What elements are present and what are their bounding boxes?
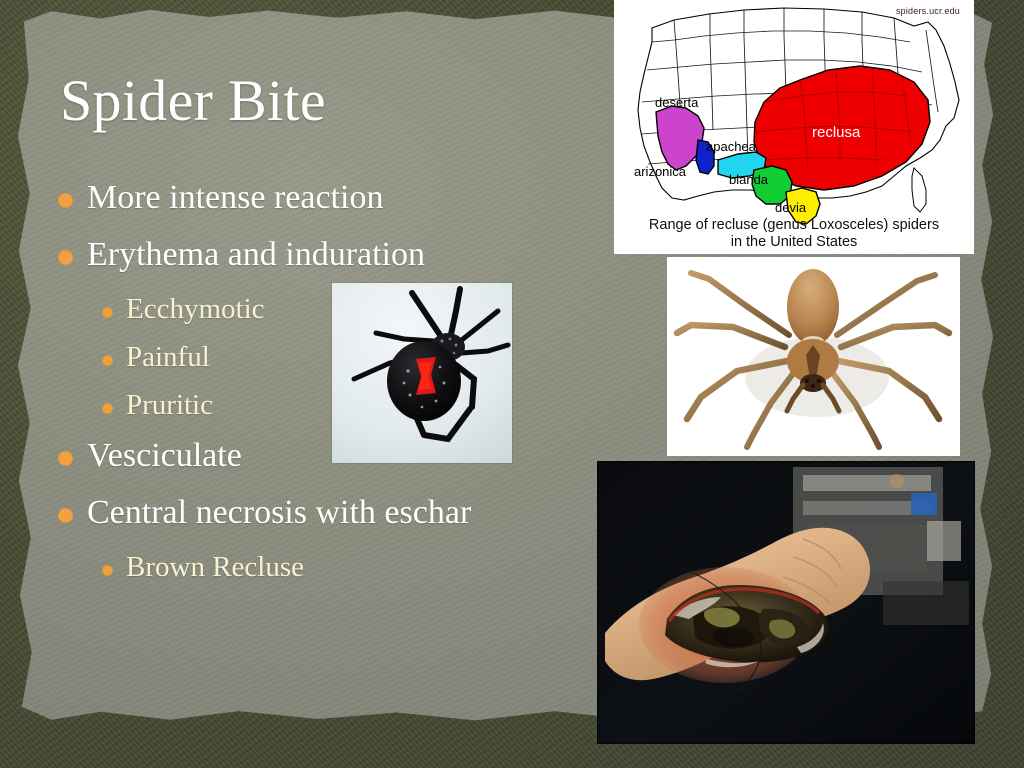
list-item-label: More intense reaction	[87, 172, 383, 223]
bullet-dot-icon	[102, 307, 113, 318]
page-title: Spider Bite	[60, 72, 326, 130]
list-item-label: Brown Recluse	[126, 544, 304, 590]
slide: Spider Bite More intense reaction Erythe…	[0, 0, 1024, 768]
list-item: Brown Recluse	[102, 544, 618, 590]
recluse-range-map: spiders.ucr.edu deserta arizonica apache…	[614, 0, 974, 254]
bullet-dot-icon	[58, 508, 73, 523]
bullet-dot-icon	[102, 355, 113, 366]
bullet-dot-icon	[58, 451, 73, 466]
map-label-deserta: deserta	[655, 95, 698, 110]
black-widow-spider-graphic	[332, 283, 512, 463]
map-source-label: spiders.ucr.edu	[896, 6, 960, 16]
us-range-map-graphic	[614, 0, 974, 254]
bullet-dot-icon	[102, 403, 113, 414]
map-caption: Range of recluse (genus Loxosceles) spid…	[614, 217, 974, 251]
black-widow-spider-photo	[332, 283, 512, 463]
bullet-dot-icon	[102, 565, 113, 576]
necrotic-wound-graphic	[597, 461, 975, 744]
list-item: More intense reaction	[58, 172, 618, 223]
necrotic-wound-photo	[597, 461, 975, 744]
list-item-label: Central necrosis with eschar	[87, 487, 471, 538]
list-item-label: Erythema and induration	[87, 229, 425, 280]
list-item-label: Vesciculate	[87, 430, 242, 481]
map-label-apachea: apachea	[706, 139, 756, 154]
list-item-label: Ecchymotic	[126, 286, 265, 332]
bullet-dot-icon	[58, 250, 73, 265]
map-label-blanda: blanda	[729, 172, 768, 187]
list-item-label: Pruritic	[126, 382, 213, 428]
list-item-label: Painful	[126, 334, 210, 380]
map-label-devia: devia	[775, 200, 806, 215]
map-label-reclusa: reclusa	[812, 124, 860, 141]
bullet-dot-icon	[58, 193, 73, 208]
map-label-arizonica: arizonica	[634, 164, 686, 179]
list-item: Central necrosis with eschar	[58, 487, 618, 538]
list-item: Erythema and induration	[58, 229, 618, 280]
brown-recluse-spider-photo	[667, 257, 960, 456]
brown-recluse-spider-graphic	[667, 257, 960, 456]
